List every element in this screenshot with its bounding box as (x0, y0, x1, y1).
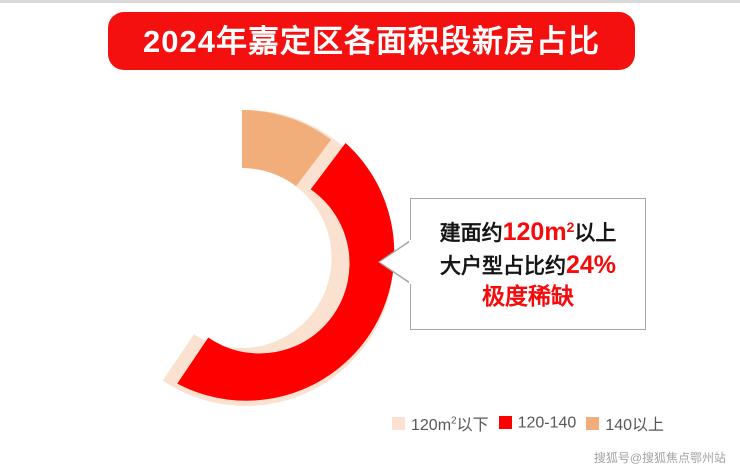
watermark: 搜狐号@搜狐焦点鄂州站 (594, 449, 726, 466)
legend-label-under-120: 120m2以下 (411, 411, 489, 435)
page-title: 2024年嘉定区各面积段新房占比 (143, 26, 600, 57)
watermark-text: 搜狐号@搜狐焦点鄂州站 (594, 449, 726, 466)
legend-item-under-120[interactable]: 120m2以下 (392, 411, 489, 435)
callout-line-2: 大户型占比约24% (440, 249, 616, 282)
legend-swatch-icon (499, 416, 512, 429)
legend-item-over-140[interactable]: 140以上 (586, 411, 664, 435)
legend-swatch-icon (392, 417, 405, 430)
donut-chart-svg (0, 88, 430, 428)
callout-line1-suffix: 以上 (574, 222, 616, 245)
legend-label-120-140: 120-140 (518, 413, 577, 432)
legend-item-120-140[interactable]: 120-140 (499, 413, 577, 432)
callout-line2-prefix: 大户型占比约 (440, 255, 566, 278)
callout-line2-value: 24% (566, 251, 616, 279)
callout-line1-prefix: 建面约 (440, 222, 503, 245)
callout-tail (380, 242, 410, 282)
top-divider (0, 0, 740, 3)
callout-line-1: 建面约120m2以上 (440, 216, 617, 249)
legend-label-text: 120-140 (518, 415, 577, 432)
legend-swatch-icon (586, 417, 599, 430)
callout-annotation: 建面约120m2以上 大户型占比约24% 极度稀缺 (404, 198, 648, 332)
donut-chart (0, 88, 430, 428)
legend-label-text: 140以上 (605, 417, 664, 434)
title-banner: 2024年嘉定区各面积段新房占比 (108, 12, 635, 70)
chart-legend: 120m2以下 120-140 140以上 (392, 412, 664, 434)
callout-line-3: 极度稀缺 (482, 282, 574, 312)
callout-content: 建面约120m2以上 大户型占比约24% 极度稀缺 (410, 198, 646, 330)
legend-label-text: 120m (411, 417, 451, 434)
donut-slice-120-140[interactable] (177, 143, 394, 401)
legend-label-suffix: 以下 (457, 417, 489, 434)
legend-label-over-140: 140以上 (605, 411, 664, 435)
callout-line1-value: 120m (503, 218, 567, 246)
infographic-canvas: 2024年嘉定区各面积段新房占比 建面约120m2以上 大户型占比约24% 极度… (0, 0, 740, 471)
donut-slice-120-140-group (177, 143, 394, 401)
